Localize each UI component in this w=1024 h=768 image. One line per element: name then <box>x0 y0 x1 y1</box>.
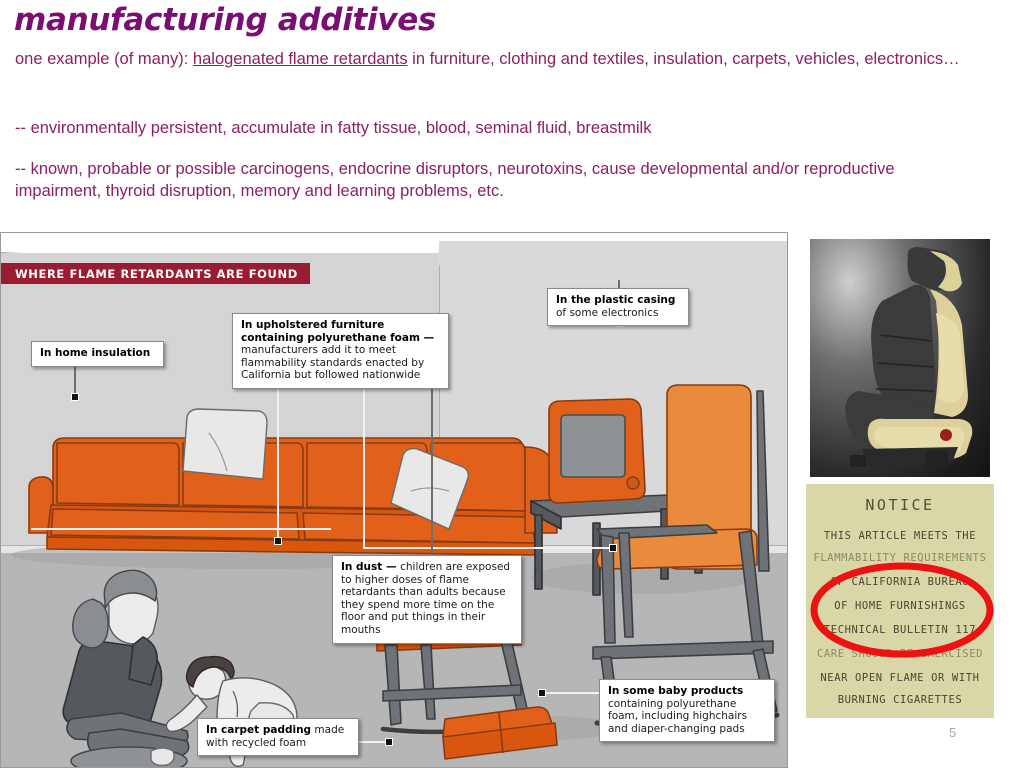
callout-upholstery-bold: In upholstered furniture containing poly… <box>241 319 434 344</box>
car-seat-photo <box>810 239 990 477</box>
leader-line-baby <box>541 692 603 694</box>
para1-post-text: in furniture, clothing and textiles, ins… <box>408 50 960 68</box>
callout-upholstered-furniture: In upholstered furniture containing poly… <box>232 313 449 389</box>
callout-plastic-bold: In the plastic casing <box>556 294 675 306</box>
leader-line-upholstery-a <box>277 388 279 540</box>
leader-line-upholstery-b <box>363 388 365 548</box>
callout-dust: In dust — children are exposed to higher… <box>332 555 522 644</box>
page-title: manufacturing additives <box>14 2 436 38</box>
notice-line-5: TECHNICAL BULLETIN 117 <box>806 624 994 636</box>
notice-line-7: NEAR OPEN FLAME OR WITH <box>806 672 994 684</box>
body-paragraph-1: one example (of many): halogenated flame… <box>15 48 975 70</box>
callout-insulation-bold: In home insulation <box>40 347 150 359</box>
callout-upholstery-rest: manufacturers add it to meet flammabilit… <box>241 344 424 381</box>
leader-line-carpet <box>358 741 388 743</box>
callout-baby-rest: containing polyurethane foam, including … <box>608 698 747 735</box>
callout-carpet-padding: In carpet padding made with recycled foa… <box>197 718 359 756</box>
leader-dot-upholstery-a <box>274 537 282 545</box>
leader-dot-insulation <box>71 393 79 401</box>
leader-dot-upholstery-b <box>609 544 617 552</box>
notice-title: NOTICE <box>806 496 994 514</box>
callout-dust-bold: In dust — <box>341 561 400 573</box>
callout-carpet-bold: In carpet padding <box>206 724 311 736</box>
notice-label-photo: NOTICE THIS ARTICLE MEETS THE FLAMMABILI… <box>806 484 994 718</box>
notice-line-1: THIS ARTICLE MEETS THE <box>806 530 994 542</box>
leader-dot-carpet <box>385 738 393 746</box>
body-paragraph-3: -- known, probable or possible carcinoge… <box>15 158 975 202</box>
notice-line-6: CARE SHOULD BE EXERCISED <box>806 648 994 660</box>
slide: manufacturing additives one example (of … <box>0 0 1024 768</box>
notice-line-8: BURNING CIGARETTES <box>806 694 994 706</box>
callout-plastic-casing: In the plastic casingof some electronics <box>547 288 689 326</box>
flame-retardant-infographic: .so{fill:#E2611A;stroke:#8a3a10;stroke-w… <box>0 232 788 768</box>
callout-plastic-rest: of some electronics <box>556 307 658 319</box>
highlighted-term: halogenated flame retardants <box>193 50 408 68</box>
body-paragraph-2: -- environmentally persistent, accumulat… <box>15 117 975 139</box>
leader-line-insulation <box>74 363 76 395</box>
leader-line-dust <box>31 528 331 530</box>
slide-number: 5 <box>949 725 956 740</box>
callout-home-insulation: In home insulation <box>31 341 164 367</box>
notice-line-4: OF HOME FURNISHINGS <box>806 600 994 612</box>
leader-dot-baby <box>538 689 546 697</box>
para1-pre-text: one example (of many): <box>15 50 193 68</box>
callout-baby-products: In some baby productscontaining polyuret… <box>599 679 775 742</box>
leader-line-upholstery-b2 <box>363 547 613 549</box>
notice-line-3: OF CALIFORNIA BUREAU <box>806 576 994 588</box>
callout-baby-bold: In some baby products <box>608 685 743 697</box>
notice-line-2: FLAMMABILITY REQUIREMENTS <box>806 552 994 564</box>
infographic-banner: WHERE FLAME RETARDANTS ARE FOUND <box>1 263 310 284</box>
